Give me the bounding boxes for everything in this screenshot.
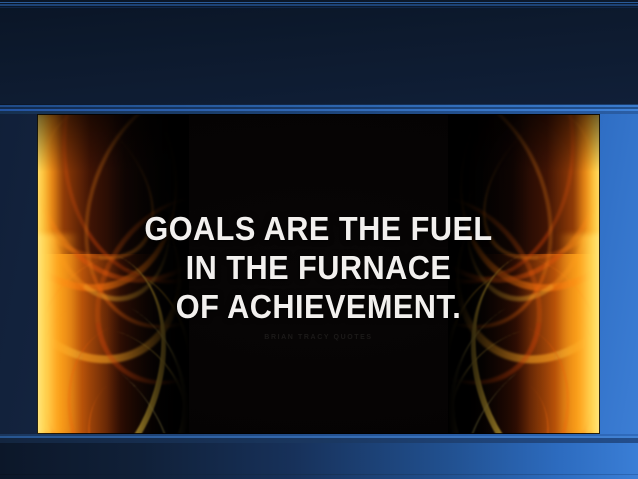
quote-text-block: GOALS ARE THE FUEL IN THE FURNACE OF ACH… xyxy=(37,210,600,327)
quote-line-3: OF ACHIEVEMENT. xyxy=(57,288,581,327)
slide-title-area[interactable] xyxy=(0,0,638,104)
quote-attribution: BRIAN TRACY QUOTES xyxy=(37,334,600,341)
quote-line-1: GOALS ARE THE FUEL xyxy=(57,210,581,249)
quote-line-2: IN THE FURNACE xyxy=(57,249,581,288)
title-area-accent-line-1 xyxy=(0,2,638,3)
title-area-accent-line-3 xyxy=(0,7,638,8)
flame-quote-image[interactable]: GOALS ARE THE FUEL IN THE FURNACE OF ACH… xyxy=(37,114,600,434)
slide-viewer: GOALS ARE THE FUEL IN THE FURNACE OF ACH… xyxy=(0,0,638,479)
title-area-accent-line-2 xyxy=(0,4,638,6)
footer-accent-line xyxy=(0,474,638,475)
title-divider-band xyxy=(0,104,638,114)
footer-divider-band xyxy=(0,434,638,443)
